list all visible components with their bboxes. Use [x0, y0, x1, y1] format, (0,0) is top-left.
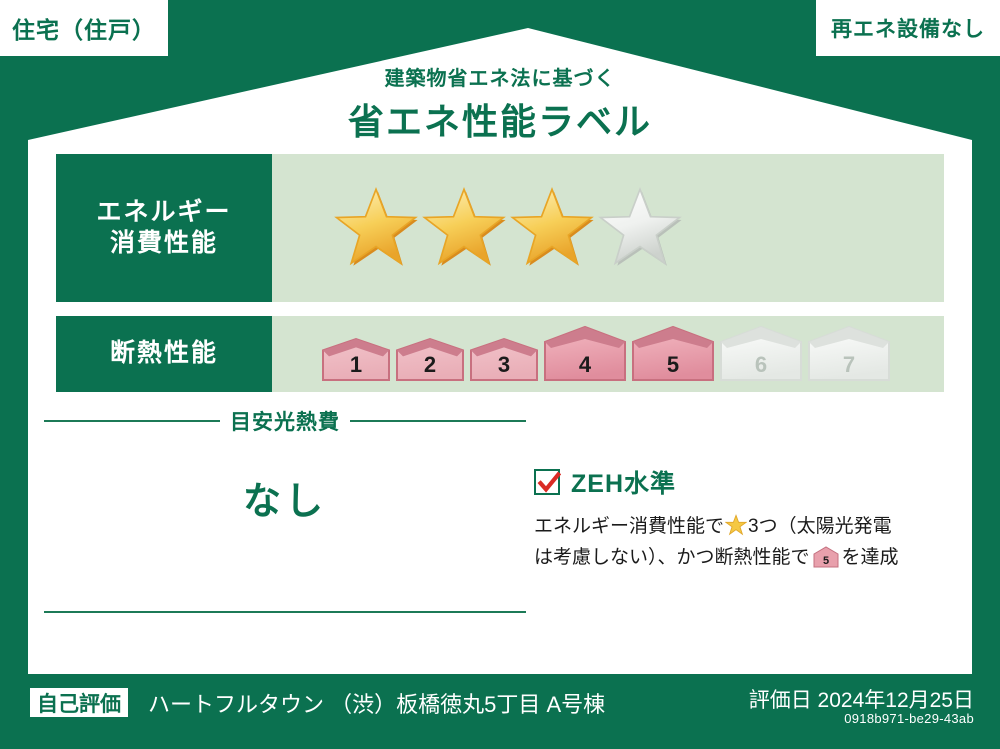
utility-cost-value: なし — [44, 470, 526, 525]
house-grade-icon — [394, 336, 466, 384]
insulation-grade-7: 7 — [806, 324, 892, 384]
inline-star-icon — [725, 514, 747, 536]
label-subtitle: 建築物省エネ法に基づく — [0, 62, 1000, 91]
cost-divider-bottom — [44, 611, 526, 613]
energy-performance-stars-area — [272, 154, 944, 302]
check-icon — [537, 471, 561, 495]
energy-label-line1: エネルギー — [96, 197, 231, 229]
insulation-grade-6: 6 — [718, 324, 804, 384]
insulation-grade-2: 2 — [394, 336, 466, 384]
energy-performance-label: エネルギー 消費性能 — [56, 154, 272, 302]
star-filled-icon — [510, 186, 594, 270]
star-filled-icon — [334, 186, 418, 270]
insulation-performance-row: 断熱性能 1234567 — [56, 316, 944, 392]
property-name: ハートフルタウン （渋）板橋徳丸5丁目 A号棟 — [148, 687, 605, 719]
energy-performance-row: エネルギー 消費性能 — [56, 154, 944, 302]
house-grade-icon — [468, 336, 540, 384]
zeh-checkbox — [534, 469, 560, 495]
zeh-desc-part1: エネルギー消費性能で — [534, 516, 724, 537]
zeh-heading: ZEH水準 — [534, 464, 954, 500]
label-title: 省エネ性能ラベル — [0, 93, 1000, 145]
zeh-desc-part2: 3つ（太陽光発電 — [748, 516, 892, 537]
label-footer: 自己評価 ハートフルタウン （渋）板橋徳丸5丁目 A号棟 評価日 2024年12… — [0, 674, 1000, 749]
inline-house-number: 5 — [822, 555, 828, 567]
house-grade-icon — [806, 324, 892, 384]
star-empty-icon — [598, 186, 682, 270]
house-grade-icon — [320, 336, 392, 384]
house-grade-icon — [718, 324, 804, 384]
insulation-performance-label: 断熱性能 — [56, 316, 272, 392]
inline-house-grade-icon: 5 — [813, 546, 839, 568]
badge-building-type: 住宅（住戸） — [0, 0, 168, 56]
self-evaluation-badge: 自己評価 — [30, 688, 128, 717]
zeh-description: エネルギー消費性能で3つ（太陽光発電 は考慮しない）、かつ断熱性能で5を達成 — [534, 512, 954, 574]
insulation-label-text: 断熱性能 — [110, 338, 218, 370]
utility-cost-title: 目安光熱費 — [230, 406, 340, 436]
star-filled-icon — [422, 186, 506, 270]
zeh-desc-part3: は考慮しない）、かつ断熱性能で — [534, 547, 810, 568]
house-grade-icon — [542, 324, 628, 384]
star-rating — [334, 186, 682, 270]
insulation-grade-4: 4 — [542, 324, 628, 384]
zeh-title: ZEH水準 — [571, 464, 676, 500]
insulation-grade-5: 5 — [630, 324, 716, 384]
insulation-grade-scale: 1234567 — [320, 324, 892, 384]
insulation-scale-area: 1234567 — [272, 316, 944, 392]
evaluation-id: 0918b971-be29-43ab — [844, 711, 974, 726]
energy-label-root: 住宅（住戸） 再エネ設備なし 建築物省エネ法に基づく 省エネ性能ラベル エネルギ… — [0, 0, 1000, 749]
house-grade-icon — [630, 324, 716, 384]
zeh-desc-part4: を達成 — [842, 547, 899, 568]
energy-label-line2: 消費性能 — [110, 228, 218, 260]
cost-rule-right — [350, 420, 526, 422]
cost-rule-left — [44, 420, 220, 422]
zeh-standard-block: ZEH水準 エネルギー消費性能で3つ（太陽光発電 は考慮しない）、かつ断熱性能で… — [534, 464, 954, 574]
insulation-grade-3: 3 — [468, 336, 540, 384]
insulation-grade-1: 1 — [320, 336, 392, 384]
badge-renewable-energy: 再エネ設備なし — [816, 0, 1000, 56]
utility-cost-heading: 目安光熱費 — [44, 408, 526, 434]
evaluation-date: 評価日 2024年12月25日 — [749, 684, 974, 714]
